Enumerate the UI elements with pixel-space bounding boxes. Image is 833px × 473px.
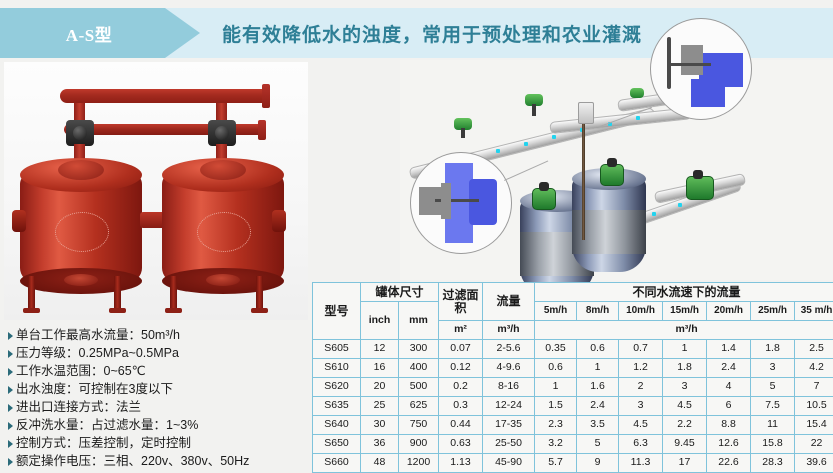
cell-mm: 1200 <box>399 454 439 473</box>
lower-pipe-flange <box>258 120 266 140</box>
tank-right-manhole <box>197 212 251 252</box>
callout-leader-left <box>504 160 548 180</box>
table-header-row-1: 型号 罐体尺寸 过滤面积 流量 不同水流速下的流量 <box>313 283 833 302</box>
tank-right-foot-2 <box>251 308 268 313</box>
cell-speed-2: 11.3 <box>619 454 663 473</box>
cell-speed-6: 39.6 <box>795 454 833 473</box>
cell-speed-5: 7.5 <box>751 397 795 416</box>
spec-text: 工作水温范围：0~65℃ <box>16 364 146 379</box>
bullet-triangle-icon <box>8 332 13 340</box>
top-pipe-flange <box>262 84 270 108</box>
bullet-triangle-icon <box>8 350 13 358</box>
cell-speed-3: 1 <box>663 340 707 359</box>
cell-inch: 36 <box>361 435 399 454</box>
th-group-speed: 不同水流速下的流量 <box>535 283 833 302</box>
cell-speed-0: 0.6 <box>535 359 577 378</box>
cell-speed-4: 4 <box>707 378 751 397</box>
cell-speed-1: 5 <box>577 435 619 454</box>
cell-speed-5: 15.8 <box>751 435 795 454</box>
cell-speed-6: 15.4 <box>795 416 833 435</box>
tank-right-drain <box>206 274 240 286</box>
model-badge-label: A-S型 <box>66 21 134 46</box>
cell-mm: 900 <box>399 435 439 454</box>
th-unit-flow: m³/h <box>483 321 535 340</box>
cell-flow: 17-35 <box>483 416 535 435</box>
cell-inch: 25 <box>361 397 399 416</box>
spec-text: 额定操作电压：三相、220v、380v、50Hz <box>16 454 249 469</box>
tank-left-manhole <box>55 212 109 252</box>
spec-list: 单台工作最高水流量：50m³/h 压力等级：0.25MPa~0.5MPa 工作水… <box>6 328 306 472</box>
tank-left-drain <box>64 274 98 286</box>
spec-item: 额定操作电压：三相、220v、380v、50Hz <box>6 454 306 469</box>
upper-valve-knob <box>630 88 644 98</box>
th-unit-area: m² <box>439 321 483 340</box>
cell-flow: 45-90 <box>483 454 535 473</box>
table-row: S635 25 625 0.3 12-24 1.5 2.4 3 4.5 6 7.… <box>313 397 833 416</box>
cell-model: S635 <box>313 397 361 416</box>
cell-speed-6: 4.2 <box>795 359 833 378</box>
bullet-triangle-icon <box>8 368 13 376</box>
cell-speed-5: 28.3 <box>751 454 795 473</box>
cell-speed-6: 22 <box>795 435 833 454</box>
cell-area: 1.13 <box>439 454 483 473</box>
cell-speed-0: 0.35 <box>535 340 577 359</box>
bullet-triangle-icon <box>8 458 13 466</box>
tank-left-valve <box>532 188 556 210</box>
cell-speed-0: 3.2 <box>535 435 577 454</box>
th-speed-4: 20m/h <box>707 302 751 321</box>
spec-text: 单台工作最高水流量：50m³/h <box>16 328 180 343</box>
th-speed-5: 25m/h <box>751 302 795 321</box>
cell-model: S610 <box>313 359 361 378</box>
cutaway-water-right-lower <box>691 79 725 107</box>
cell-model: S650 <box>313 435 361 454</box>
tank-right-foot-1 <box>165 308 182 313</box>
system-diagram <box>400 60 833 280</box>
cell-speed-4: 12.6 <box>707 435 751 454</box>
bullet-triangle-icon <box>8 404 13 412</box>
cell-speed-1: 3.5 <box>577 416 619 435</box>
cell-speed-3: 17 <box>663 454 707 473</box>
cell-speed-5: 11 <box>751 416 795 435</box>
cell-mm: 400 <box>399 359 439 378</box>
th-speed-0: 5m/h <box>535 302 577 321</box>
cell-mm: 500 <box>399 378 439 397</box>
table-row: S620 20 500 0.2 8-16 1 1.6 2 3 4 5 7 <box>313 378 833 397</box>
cell-speed-0: 1.5 <box>535 397 577 416</box>
spec-table-body: S605 12 300 0.07 2-5.6 0.35 0.6 0.7 1 1.… <box>313 340 833 473</box>
cell-area: 0.3 <box>439 397 483 416</box>
cell-speed-5: 3 <box>751 359 795 378</box>
th-unit-mm: mm <box>399 302 439 340</box>
cell-speed-2: 4.5 <box>619 416 663 435</box>
cell-speed-6: 7 <box>795 378 833 397</box>
flow-arrow <box>524 142 528 146</box>
cell-speed-4: 8.8 <box>707 416 751 435</box>
flow-arrow <box>496 149 500 153</box>
cell-flow: 8-16 <box>483 378 535 397</box>
cell-speed-4: 6 <box>707 397 751 416</box>
cell-inch: 12 <box>361 340 399 359</box>
tank-right-side-nozzle <box>272 210 286 232</box>
cell-speed-1: 1 <box>577 359 619 378</box>
bullet-triangle-icon <box>8 422 13 430</box>
pressure-gauge <box>578 102 594 124</box>
model-badge: A-S型 <box>0 8 200 58</box>
spec-text: 出水浊度：可控制在3度以下 <box>16 382 173 397</box>
spec-item: 进出口连接方式：法兰 <box>6 400 306 415</box>
cell-flow: 4-9.6 <box>483 359 535 378</box>
table-row: S610 16 400 0.12 4-9.6 0.6 1 1.2 1.8 2.4… <box>313 359 833 378</box>
bullet-triangle-icon <box>8 440 13 448</box>
cell-flow: 25-50 <box>483 435 535 454</box>
cutaway-body-right <box>681 45 703 75</box>
spec-item: 出水浊度：可控制在3度以下 <box>6 382 306 397</box>
cell-flow: 12-24 <box>483 397 535 416</box>
control-valve-right <box>208 120 236 146</box>
air-release-stem <box>532 104 536 116</box>
cell-speed-2: 3 <box>619 397 663 416</box>
cell-model: S640 <box>313 416 361 435</box>
flow-arrow <box>552 135 556 139</box>
cell-flow: 2-5.6 <box>483 340 535 359</box>
th-unit-inch: inch <box>361 302 399 340</box>
spec-table: 型号 罐体尺寸 过滤面积 流量 不同水流速下的流量 inch mm 5m/h 8… <box>312 282 833 473</box>
cell-speed-2: 0.7 <box>619 340 663 359</box>
th-speed-6: 35 m/h <box>795 302 833 321</box>
top-manifold-pipe <box>60 89 270 103</box>
cell-mm: 625 <box>399 397 439 416</box>
cell-model: S660 <box>313 454 361 473</box>
cell-speed-3: 9.45 <box>663 435 707 454</box>
cell-speed-2: 2 <box>619 378 663 397</box>
outlet-control-valve <box>686 176 714 200</box>
cell-model: S605 <box>313 340 361 359</box>
cell-area: 0.44 <box>439 416 483 435</box>
cell-speed-5: 5 <box>751 378 795 397</box>
table-row: S650 36 900 0.63 25-50 3.2 5 6.3 9.45 12… <box>313 435 833 454</box>
cell-mm: 300 <box>399 340 439 359</box>
table-row: S660 48 1200 1.13 45-90 5.7 9 11.3 17 22… <box>313 454 833 473</box>
cutaway-diaphragm <box>469 179 497 225</box>
bullet-triangle-icon <box>8 386 13 394</box>
cell-area: 0.63 <box>439 435 483 454</box>
tank-left-foot-1 <box>23 308 40 313</box>
cell-mm: 750 <box>399 416 439 435</box>
cell-inch: 48 <box>361 454 399 473</box>
cell-speed-4: 2.4 <box>707 359 751 378</box>
th-flow: 流量 <box>483 283 535 321</box>
cell-speed-2: 1.2 <box>619 359 663 378</box>
cell-speed-0: 5.7 <box>535 454 577 473</box>
tank-right-top-flange <box>200 160 246 180</box>
tank-right-leg-2 <box>256 276 263 310</box>
th-speed-3: 15m/h <box>663 302 707 321</box>
cell-speed-3: 2.2 <box>663 416 707 435</box>
cell-speed-3: 4.5 <box>663 397 707 416</box>
spec-item: 控制方式：压差控制，定时控制 <box>6 436 306 451</box>
spec-text: 进出口连接方式：法兰 <box>16 400 141 415</box>
valve-cutaway-callout-left <box>410 152 512 254</box>
control-valve-left <box>66 120 94 146</box>
cell-model: S620 <box>313 378 361 397</box>
table-row: S640 30 750 0.44 17-35 2.3 3.5 4.5 2.2 8… <box>313 416 833 435</box>
spec-item: 单台工作最高水流量：50m³/h <box>6 328 306 343</box>
flow-arrow <box>652 212 656 216</box>
tank-right-valve <box>600 164 624 186</box>
table-row: S605 12 300 0.07 2-5.6 0.35 0.6 0.7 1 1.… <box>313 340 833 359</box>
spec-table-wrap: 型号 罐体尺寸 过滤面积 流量 不同水流速下的流量 inch mm 5m/h 8… <box>312 282 828 473</box>
cell-area: 0.2 <box>439 378 483 397</box>
cell-speed-3: 3 <box>663 378 707 397</box>
page-title: 能有效降低水的浊度，常用于预处理和农业灌溉 <box>222 8 642 58</box>
cell-speed-5: 1.8 <box>751 340 795 359</box>
tank-left-leg-1 <box>28 276 35 310</box>
th-model: 型号 <box>313 283 361 340</box>
spec-item: 压力等级：0.25MPa~0.5MPa <box>6 346 306 361</box>
cell-inch: 16 <box>361 359 399 378</box>
cell-speed-1: 2.4 <box>577 397 619 416</box>
spec-item: 反冲洗水量：占过滤水量：1~3% <box>6 418 306 433</box>
cell-inch: 30 <box>361 416 399 435</box>
cell-speed-4: 22.6 <box>707 454 751 473</box>
flow-arrow <box>678 203 682 207</box>
flow-arrow <box>636 116 640 120</box>
spec-text: 控制方式：压差控制，定时控制 <box>16 436 191 451</box>
tank-left-side-nozzle <box>12 210 26 232</box>
spec-item: 工作水温范围：0~65℃ <box>6 364 306 379</box>
cell-speed-1: 1.6 <box>577 378 619 397</box>
th-unit-speed-flow: m³/h <box>535 321 833 340</box>
cell-speed-3: 1.8 <box>663 359 707 378</box>
tank-left-leg-2 <box>114 276 121 310</box>
cell-area: 0.07 <box>439 340 483 359</box>
th-filter-area: 过滤面积 <box>439 283 483 321</box>
cutaway-spring-right <box>667 37 671 89</box>
cell-speed-6: 10.5 <box>795 397 833 416</box>
tank-left-foot-2 <box>109 308 126 313</box>
th-speed-2: 10m/h <box>619 302 663 321</box>
th-tank-size: 罐体尺寸 <box>361 283 439 302</box>
tank-left-top-flange <box>58 160 104 180</box>
cell-speed-1: 9 <box>577 454 619 473</box>
cell-inch: 20 <box>361 378 399 397</box>
cell-speed-0: 2.3 <box>535 416 577 435</box>
product-photo <box>4 62 308 320</box>
cell-speed-6: 2.5 <box>795 340 833 359</box>
support-post <box>582 118 585 240</box>
cell-speed-4: 1.4 <box>707 340 751 359</box>
th-speed-1: 8m/h <box>577 302 619 321</box>
air-release-stem-left <box>461 128 465 138</box>
tank-right-leg-1 <box>170 276 177 310</box>
cell-speed-2: 6.3 <box>619 435 663 454</box>
cell-speed-0: 1 <box>535 378 577 397</box>
cutaway-stem-right <box>669 63 711 66</box>
spec-text: 压力等级：0.25MPa~0.5MPa <box>16 346 179 361</box>
cutaway-seat <box>441 183 451 219</box>
cell-area: 0.12 <box>439 359 483 378</box>
cell-speed-1: 0.6 <box>577 340 619 359</box>
valve-cutaway-callout-right <box>650 18 752 120</box>
spec-text: 反冲洗水量：占过滤水量：1~3% <box>16 418 198 433</box>
table-header-row-2: inch mm 5m/h 8m/h 10m/h 15m/h 20m/h 25m/… <box>313 302 833 321</box>
